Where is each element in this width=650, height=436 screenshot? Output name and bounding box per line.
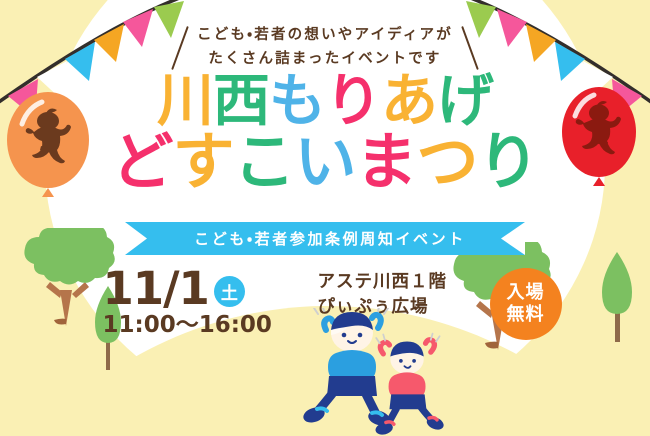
free-admission-badge: 入場 無料 [490, 268, 562, 340]
title-line-1: 川西もりあげ [0, 74, 650, 130]
tagline: こども・若者の想いやアイディアが たくさん詰まったイベントです [197, 24, 453, 72]
tagline-line-1: こども・若者の想いやアイディアが [197, 24, 453, 48]
event-poster: こども・若者の想いやアイディアが たくさん詰まったイベントです 川西もりあげ ど… [0, 0, 650, 436]
tagline-block: こども・若者の想いやアイディアが たくさん詰まったイベントです [0, 24, 650, 72]
title-char-3: り [325, 74, 381, 130]
title-char-0: 川 [157, 74, 213, 130]
title-char-4: あ [381, 74, 437, 130]
subtitle-ribbon: こども・若者参加条例周知イベント [125, 222, 525, 255]
day-of-week-badge: 土 [214, 276, 245, 307]
title-char-0: ど [111, 132, 172, 193]
slash-right-icon [461, 26, 479, 70]
event-date: 11/1 [103, 266, 209, 311]
date-block: 11/1 土 11:00〜16:00 [89, 266, 318, 337]
title-line-2: どすこいまつり [0, 132, 650, 193]
date-row: 11/1 土 [103, 266, 318, 311]
title-char-3: い [294, 132, 355, 193]
venue-line-1: アステ川西１階 [318, 270, 478, 295]
title-char-2: も [269, 74, 325, 130]
free-admission-line-2: 無料 [507, 304, 545, 326]
title-char-1: す [172, 132, 233, 193]
kids-illustration [300, 308, 475, 436]
title-char-1: 西 [213, 74, 269, 130]
ribbon-text: こども・若者参加条例周知イベント [184, 228, 466, 249]
slash-left-icon [171, 26, 189, 70]
title-char-5: げ [437, 74, 493, 130]
kid-big [301, 308, 391, 428]
free-admission-line-1: 入場 [507, 282, 545, 304]
event-time: 11:00〜16:00 [103, 314, 318, 337]
title-char-5: つ [417, 132, 478, 193]
page-title: 川西もりあげ どすこいまつり [0, 74, 650, 193]
title-char-4: ま [356, 132, 417, 193]
title-char-6: り [478, 132, 539, 193]
title-char-2: こ [233, 132, 294, 193]
